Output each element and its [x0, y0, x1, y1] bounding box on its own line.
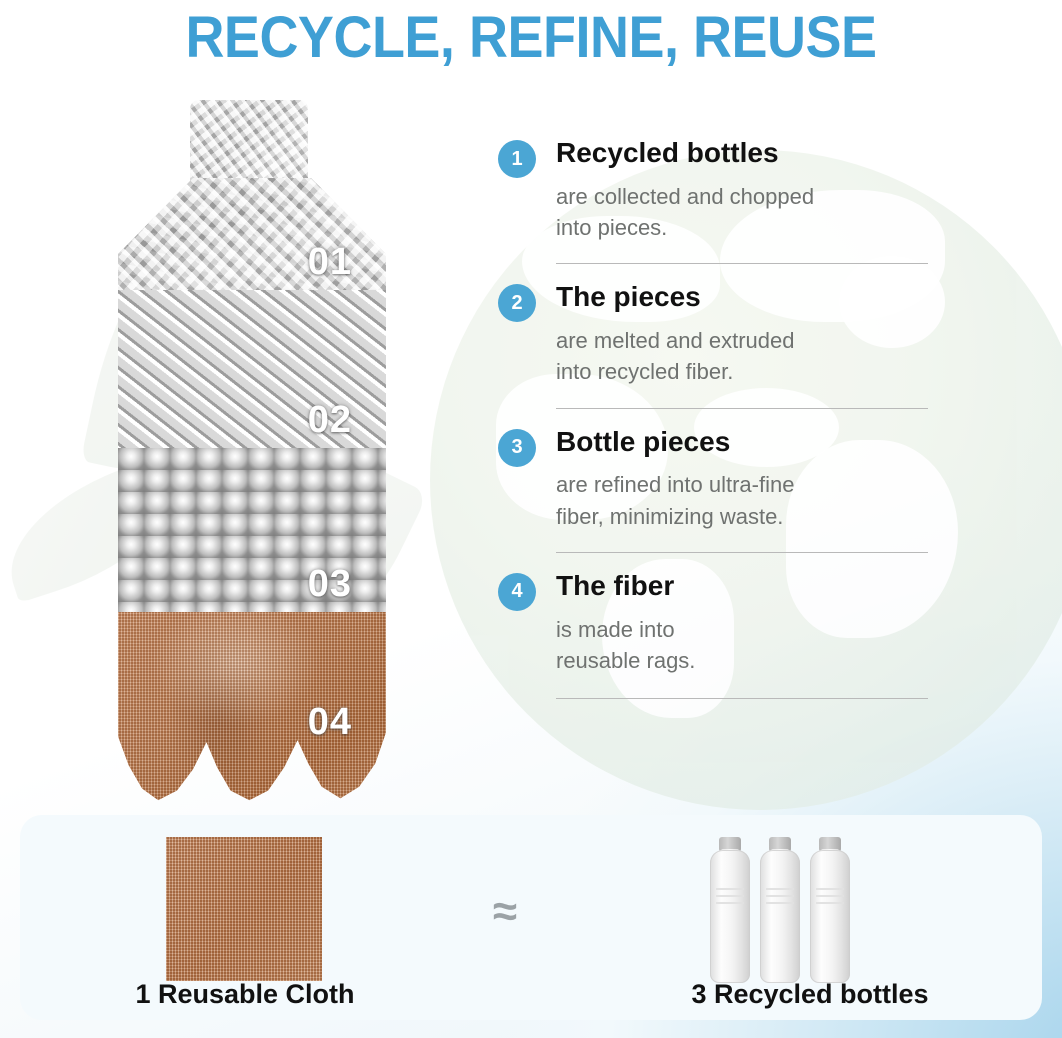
step-heading-3: Bottle pieces [556, 427, 794, 458]
bottles-label: 3 Recycled bottles [580, 979, 1040, 1010]
cloth-swatch [166, 837, 322, 981]
segment-number-04: 04 [308, 701, 352, 744]
segment-number-01: 01 [308, 241, 352, 284]
bottle-segment-04: 04 [118, 612, 386, 806]
step-body-2: are melted and extruded into recycled fi… [556, 325, 795, 387]
step-badge-1: 1 [498, 140, 536, 178]
step-divider [556, 408, 928, 409]
step-divider [556, 552, 928, 553]
bottle-body-icon [760, 850, 800, 983]
bottle-trio-icon [710, 837, 850, 983]
step-heading-4: The fiber [556, 571, 695, 602]
bottle-body-icon [810, 850, 850, 983]
bottle-diagram: 01 02 03 04 [118, 100, 386, 806]
cloth-label: 1 Reusable Cloth [20, 979, 470, 1010]
segment-number-02: 02 [308, 399, 352, 442]
bottle-segment-03: 03 [118, 448, 386, 612]
step-divider [556, 263, 928, 264]
step-heading-2: The pieces [556, 282, 795, 313]
step-badge-2: 2 [498, 284, 536, 322]
step-divider [556, 698, 928, 699]
step-body-1: are collected and chopped into pieces. [556, 181, 814, 243]
infographic-poster: RECYCLE, REFINE, REUSE 01 02 03 04 1 Rec… [0, 0, 1062, 1038]
steps-list: 1 Recycled bottles are collected and cho… [498, 138, 928, 717]
bottle-body-icon [710, 850, 750, 983]
page-title: RECYCLE, REFINE, REUSE [37, 4, 1025, 71]
equivalence-card: ≈ 1 Reusable Cloth [20, 815, 1042, 1020]
step-item: 1 Recycled bottles are collected and cho… [498, 138, 928, 282]
segment-number-03: 03 [308, 563, 352, 606]
bottle-segment-01: 01 [118, 100, 386, 290]
step-badge-4: 4 [498, 573, 536, 611]
step-body-3: are refined into ultra-fine fiber, minim… [556, 469, 794, 531]
step-item: 3 Bottle pieces are refined into ultra-f… [498, 427, 928, 571]
step-item: 4 The fiber is made into reusable rags. [498, 571, 928, 717]
bottle-segment-02: 02 [118, 290, 386, 448]
step-heading-1: Recycled bottles [556, 138, 814, 169]
approx-equal-icon: ≈ [475, 887, 535, 937]
step-item: 2 The pieces are melted and extruded int… [498, 282, 928, 426]
step-body-4: is made into reusable rags. [556, 614, 695, 676]
step-badge-3: 3 [498, 429, 536, 467]
